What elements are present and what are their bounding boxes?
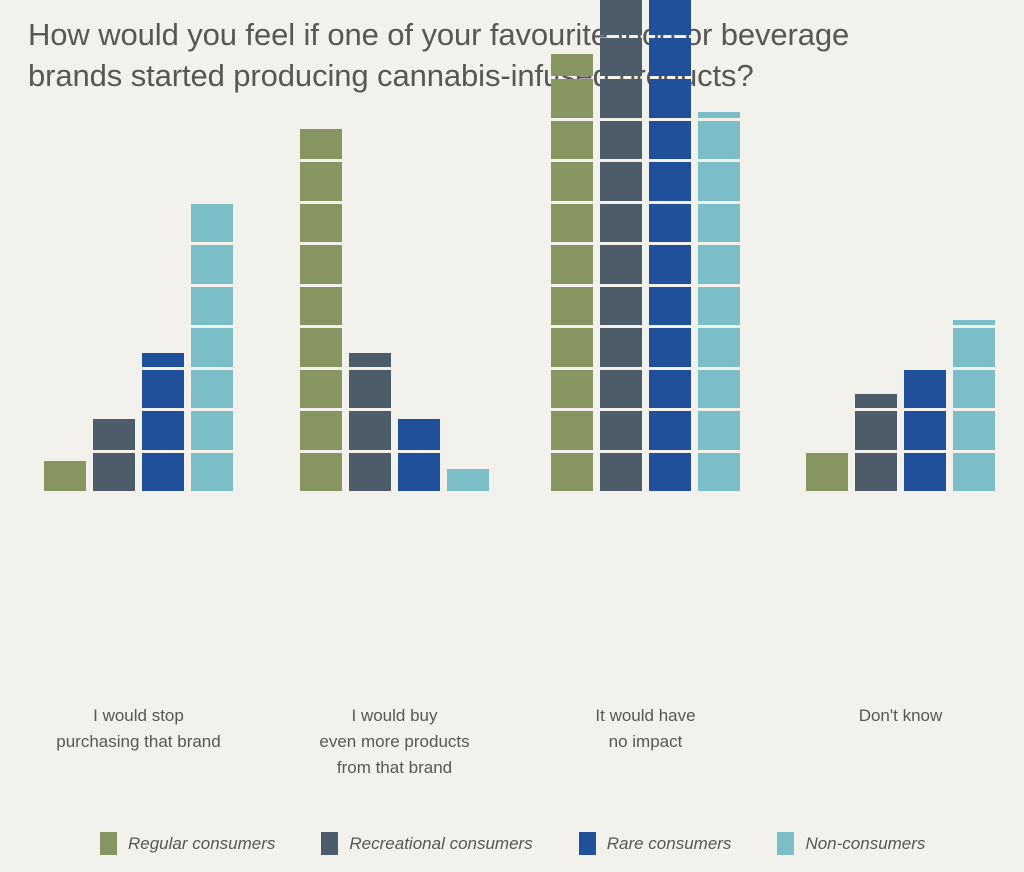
- bar-segment: [300, 370, 342, 409]
- bar-segment: [855, 453, 897, 492]
- bar-segment: [649, 328, 691, 367]
- bar-segment: [551, 370, 593, 409]
- bar-segment: [698, 112, 740, 117]
- bar[interactable]: [904, 367, 946, 492]
- legend-item[interactable]: Recreational consumers: [321, 832, 532, 855]
- bar[interactable]: [551, 51, 593, 491]
- bar-segment: [349, 453, 391, 492]
- bar-segment: [649, 162, 691, 201]
- bar-segment: [953, 320, 995, 325]
- chart-root: How would you feel if one of your favour…: [0, 0, 1024, 872]
- bar-segment: [191, 370, 233, 409]
- bar-segment: [600, 328, 642, 367]
- bar[interactable]: [300, 126, 342, 491]
- bar-group: [300, 0, 489, 682]
- bar-segment: [300, 129, 342, 159]
- bar-segment: [698, 328, 740, 367]
- bar-segment: [953, 453, 995, 492]
- legend-swatch-icon: [579, 832, 596, 855]
- category-label: I would stop purchasing that brand: [9, 703, 269, 755]
- bar[interactable]: [447, 466, 489, 491]
- legend-swatch-icon: [100, 832, 117, 855]
- bar-segment: [300, 204, 342, 243]
- bar-segment: [649, 370, 691, 409]
- bar-segment: [904, 453, 946, 492]
- bar-segment: [551, 328, 593, 367]
- bar-segment: [600, 79, 642, 118]
- bar-segment: [398, 419, 440, 449]
- bar-segment: [649, 0, 691, 35]
- legend-label: Non-consumers: [805, 834, 925, 854]
- legend-label: Recreational consumers: [349, 834, 532, 854]
- bar-segment: [649, 204, 691, 243]
- bar-segment: [698, 411, 740, 450]
- legend-swatch-icon: [777, 832, 794, 855]
- bar-segment: [600, 370, 642, 409]
- bar-segment: [904, 370, 946, 409]
- legend-item[interactable]: Non-consumers: [777, 832, 925, 855]
- bar-segment: [551, 162, 593, 201]
- bar-segment: [300, 245, 342, 284]
- bar-segment: [142, 411, 184, 450]
- category-label: Don't know: [771, 703, 1024, 729]
- bar-segment: [855, 394, 897, 408]
- bar-segment: [698, 162, 740, 201]
- chart-legend: Regular consumersRecreational consumersR…: [100, 832, 971, 855]
- bar-segment: [649, 453, 691, 492]
- bar-segment: [600, 0, 642, 35]
- bar[interactable]: [142, 350, 184, 491]
- bar-group: [551, 0, 740, 682]
- bar-segment: [551, 287, 593, 326]
- bar-segment: [551, 121, 593, 160]
- bar-segment: [398, 453, 440, 492]
- bar-segment: [191, 328, 233, 367]
- bar-segment: [551, 245, 593, 284]
- legend-item[interactable]: Rare consumers: [579, 832, 732, 855]
- bar-segment: [698, 121, 740, 160]
- bar-segment: [904, 411, 946, 450]
- bar-segment: [349, 353, 391, 367]
- bar-segment: [300, 453, 342, 492]
- bar-segment: [698, 245, 740, 284]
- bar-segment: [600, 287, 642, 326]
- bar-segment: [600, 245, 642, 284]
- bar-segment: [698, 453, 740, 492]
- bar-segment: [349, 370, 391, 409]
- bar-segment: [551, 54, 593, 76]
- bar[interactable]: [398, 416, 440, 491]
- bar-segment: [600, 162, 642, 201]
- bar-segment: [300, 411, 342, 450]
- bar-segment: [649, 287, 691, 326]
- bar[interactable]: [600, 0, 642, 491]
- bar-group: [806, 0, 995, 682]
- bar-segment: [191, 453, 233, 492]
- bar-segment: [649, 245, 691, 284]
- bar[interactable]: [44, 458, 86, 491]
- bar[interactable]: [953, 317, 995, 491]
- bar-segment: [300, 287, 342, 326]
- bar-segment: [191, 411, 233, 450]
- bar-segment: [300, 328, 342, 367]
- bar-segment: [551, 411, 593, 450]
- bar-segment: [953, 328, 995, 367]
- bar-segment: [447, 469, 489, 491]
- bar-segment: [551, 204, 593, 243]
- bar-segment: [855, 411, 897, 450]
- bar[interactable]: [855, 391, 897, 491]
- bar-segment: [551, 79, 593, 118]
- bar-segment: [806, 453, 848, 492]
- bar-segment: [600, 453, 642, 492]
- category-label: It would have no impact: [516, 703, 776, 755]
- bar[interactable]: [191, 201, 233, 492]
- legend-swatch-icon: [321, 832, 338, 855]
- bar-segment: [300, 162, 342, 201]
- bar-segment: [551, 453, 593, 492]
- legend-label: Regular consumers: [128, 834, 275, 854]
- bar-segment: [953, 411, 995, 450]
- bar-segment: [44, 461, 86, 491]
- bar-segment: [649, 79, 691, 118]
- bar[interactable]: [698, 109, 740, 491]
- bar[interactable]: [806, 450, 848, 492]
- category-label: I would buy even more products from that…: [265, 703, 525, 781]
- bar-segment: [698, 287, 740, 326]
- bar-segment: [191, 287, 233, 326]
- bar-group: [44, 0, 233, 682]
- bar[interactable]: [649, 0, 691, 491]
- bar-segment: [191, 204, 233, 243]
- bar-segment: [93, 453, 135, 492]
- bar-segment: [600, 204, 642, 243]
- bar-segment: [349, 411, 391, 450]
- bar-segment: [142, 453, 184, 492]
- bar-segment: [698, 204, 740, 243]
- bar-segment: [649, 121, 691, 160]
- bar-segment: [142, 353, 184, 367]
- legend-label: Rare consumers: [607, 834, 732, 854]
- bar[interactable]: [93, 416, 135, 491]
- bar-segment: [649, 411, 691, 450]
- bar-segment: [953, 370, 995, 409]
- bar-segment: [649, 38, 691, 77]
- bar-segment: [600, 121, 642, 160]
- legend-item[interactable]: Regular consumers: [100, 832, 275, 855]
- bar-segment: [142, 370, 184, 409]
- bar-segment: [600, 411, 642, 450]
- bar[interactable]: [349, 350, 391, 491]
- bar-segment: [191, 245, 233, 284]
- bar-segment: [93, 419, 135, 449]
- bar-segment: [600, 38, 642, 77]
- bar-segment: [698, 370, 740, 409]
- plot-area: [0, 0, 1024, 682]
